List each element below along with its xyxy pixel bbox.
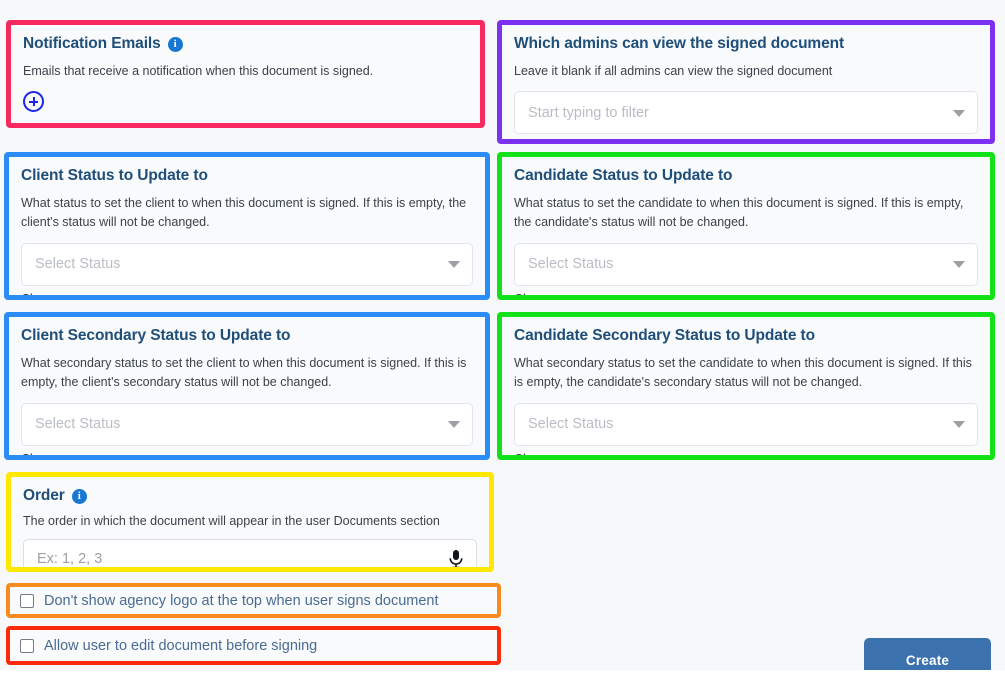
hide-logo-label: Don't show agency logo at the top when u… (44, 593, 439, 609)
admins-view-label: Which admins can view the signed documen… (514, 35, 844, 53)
chevron-down-icon (953, 261, 965, 268)
microphone-icon[interactable] (448, 549, 464, 569)
client-status-clear-link[interactable]: Clear (21, 292, 51, 300)
chevron-down-icon (953, 421, 965, 428)
info-icon[interactable]: i (168, 37, 183, 52)
admins-view-select[interactable]: Start typing to filter (514, 91, 978, 134)
hide-logo-card[interactable]: Don't show agency logo at the top when u… (6, 583, 501, 618)
allow-edit-checkbox[interactable] (20, 639, 34, 653)
chevron-down-icon (448, 261, 460, 268)
client-secondary-status-label: Client Secondary Status to Update to (21, 327, 290, 345)
client-status-placeholder: Select Status (35, 256, 120, 272)
candidate-secondary-status-clear-link[interactable]: Clear (514, 452, 544, 460)
admins-view-title: Which admins can view the signed documen… (514, 35, 978, 53)
admins-view-card: Which admins can view the signed documen… (497, 20, 995, 144)
candidate-secondary-status-placeholder: Select Status (528, 416, 613, 432)
order-title: Order i (23, 487, 477, 505)
candidate-status-card: Candidate Status to Update to What statu… (497, 152, 995, 300)
order-help: The order in which the document will app… (23, 512, 477, 531)
admins-view-help: Leave it blank if all admins can view th… (514, 62, 978, 81)
candidate-secondary-status-help: What secondary status to set the candida… (514, 354, 978, 393)
client-status-help: What status to set the client to when th… (21, 194, 473, 233)
candidate-secondary-status-select[interactable]: Select Status (514, 403, 978, 446)
allow-edit-label: Allow user to edit document before signi… (44, 638, 317, 654)
candidate-status-help: What status to set the candidate to when… (514, 194, 978, 233)
client-secondary-status-placeholder: Select Status (35, 416, 120, 432)
candidate-status-select[interactable]: Select Status (514, 243, 978, 286)
order-input-wrapper[interactable]: Ex: 1, 2, 3 (23, 539, 477, 572)
client-secondary-status-card: Client Secondary Status to Update to Wha… (4, 312, 490, 460)
notification-emails-help: Emails that receive a notification when … (23, 62, 468, 81)
client-status-card: Client Status to Update to What status t… (4, 152, 490, 300)
chevron-down-icon (953, 110, 965, 117)
candidate-status-title: Candidate Status to Update to (514, 167, 978, 185)
create-button[interactable]: Create (864, 638, 991, 683)
form-page: Notification Emails i Emails that receiv… (0, 0, 1005, 685)
info-icon[interactable]: i (72, 489, 87, 504)
order-card: Order i The order in which the document … (6, 472, 494, 572)
candidate-secondary-status-label: Candidate Secondary Status to Update to (514, 327, 815, 345)
notification-emails-title: Notification Emails i (23, 35, 468, 53)
candidate-status-label: Candidate Status to Update to (514, 167, 732, 185)
client-status-select[interactable]: Select Status (21, 243, 473, 286)
hide-logo-checkbox[interactable] (20, 594, 34, 608)
candidate-secondary-status-card: Candidate Secondary Status to Update to … (497, 312, 995, 460)
candidate-secondary-status-title: Candidate Secondary Status to Update to (514, 327, 978, 345)
client-secondary-status-help: What secondary status to set the client … (21, 354, 473, 393)
client-status-title: Client Status to Update to (21, 167, 473, 185)
candidate-status-clear-link[interactable]: Clear (514, 292, 544, 300)
client-status-label: Client Status to Update to (21, 167, 208, 185)
client-secondary-status-select[interactable]: Select Status (21, 403, 473, 446)
allow-edit-card[interactable]: Allow user to edit document before signi… (6, 626, 501, 665)
candidate-status-placeholder: Select Status (528, 256, 613, 272)
add-email-icon[interactable] (23, 91, 44, 112)
notification-emails-card: Notification Emails i Emails that receiv… (6, 20, 485, 128)
client-secondary-status-title: Client Secondary Status to Update to (21, 327, 473, 345)
order-label: Order (23, 487, 65, 505)
order-placeholder: Ex: 1, 2, 3 (37, 551, 102, 567)
client-secondary-status-clear-link[interactable]: Clear (21, 452, 51, 460)
chevron-down-icon (448, 421, 460, 428)
admins-view-placeholder: Start typing to filter (528, 105, 649, 121)
notification-emails-label: Notification Emails (23, 35, 161, 53)
